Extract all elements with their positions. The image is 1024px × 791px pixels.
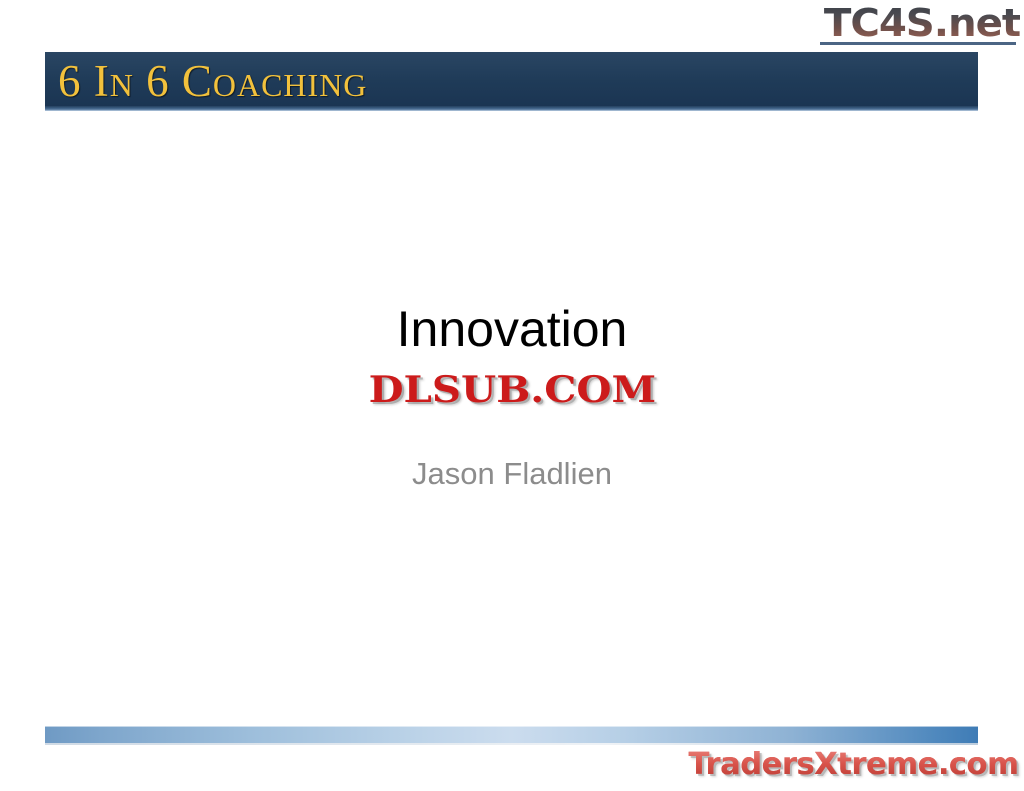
tradersxtreme-watermark: TradersXtreme.com (688, 748, 1018, 782)
slide-subtitle-author: Jason Fladlien (0, 456, 1024, 492)
page-title: Innovation (0, 300, 1024, 358)
footer-accent-bar-shadow (45, 743, 978, 745)
dlsub-watermark-fill-layer: DLSUB.COM (0, 370, 1024, 410)
slide-content: Innovation DLSUB.COM DLSUB.COM Jason Fla… (0, 300, 1024, 358)
dlsub-watermark-fill-text: DLSUB.COM (368, 370, 656, 410)
dlsub-watermark: DLSUB.COM (368, 370, 656, 410)
dlsub-watermark-outline-layer: DLSUB.COM (0, 370, 1024, 410)
tc4s-underline-rule (820, 42, 1016, 45)
slide-header-banner: 6 In 6 Coaching (45, 52, 978, 110)
footer-accent-bar (45, 726, 978, 743)
tc4s-watermark: TC4S.net (824, 2, 1020, 44)
header-title: 6 In 6 Coaching (58, 57, 367, 105)
presentation-slide: TC4S.net 6 In 6 Coaching Innovation DLSU… (0, 0, 1024, 791)
